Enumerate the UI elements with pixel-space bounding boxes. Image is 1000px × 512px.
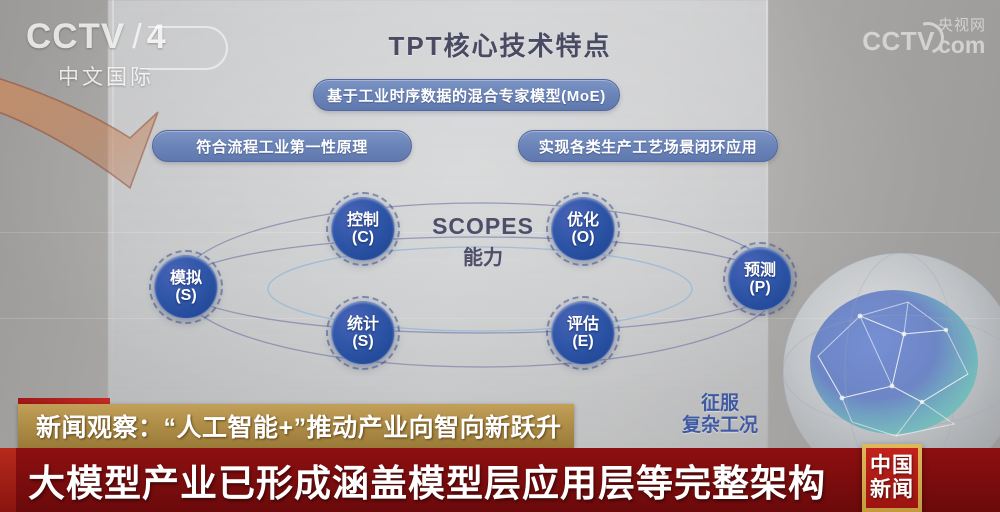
program-badge-line1: 中国: [870, 454, 914, 478]
node-evaluation: 评估 (E): [551, 301, 615, 365]
node-control-label: 控制: [347, 212, 379, 229]
diagram-center-label: SCOPES 能力: [398, 213, 568, 270]
node-prediction: 预测 (P): [728, 247, 792, 311]
node-simulation: 模拟 (S): [154, 255, 218, 319]
program-badge: 中国 新闻: [862, 444, 922, 512]
node-optimization-label: 优化: [567, 212, 599, 229]
lower-third-subtitle-bar: 新闻观察：“人工智能+”推动产业向智向新跃升: [18, 404, 574, 448]
node-simulation-label: 模拟: [170, 270, 202, 287]
node-simulation-code: (S): [175, 287, 196, 304]
side-caption-line2: 复杂工况: [660, 415, 780, 437]
slide-title: TPT核心技术特点: [0, 26, 1000, 63]
broadcast-frame: CCTV / 4 中文国际 CCTV 央视网 com TPT核心技术特点 基于工…: [0, 0, 1000, 512]
center-label-capability: 能力: [398, 241, 568, 270]
feature-pill-moe: 基于工业时序数据的混合专家模型(MoE): [313, 79, 620, 111]
center-label-scopes: SCOPES: [398, 213, 568, 240]
side-caption-line1: 征服: [701, 393, 739, 414]
node-optimization-code: (O): [571, 229, 594, 246]
node-control: 控制 (C): [331, 197, 395, 261]
lower-third-subtitle-text: 新闻观察：“人工智能+”推动产业向智向新跃升: [36, 408, 562, 444]
lower-third-headline-bar: 大模型产业已形成涵盖模型层应用层等完整架构: [0, 448, 1000, 512]
node-prediction-code: (P): [749, 279, 770, 296]
node-evaluation-code: (E): [572, 333, 593, 350]
program-badge-inner: 中国 新闻: [866, 448, 918, 508]
node-statistics: 统计 (S): [331, 301, 395, 365]
feature-pill-closed-loop: 实现各类生产工艺场景闭环应用: [518, 130, 778, 162]
node-control-code: (C): [352, 229, 374, 246]
feature-pill-first-principles: 符合流程工业第一性原理: [152, 130, 412, 162]
node-statistics-label: 统计: [347, 316, 379, 333]
scopes-capability-diagram: 模拟 (S) 控制 (C) 优化 (O) 预测 (P) 统计 (S) 评估 (E…: [110, 185, 850, 385]
program-badge-line2: 新闻: [870, 478, 914, 502]
node-evaluation-label: 评估: [567, 316, 599, 333]
node-prediction-label: 预测: [744, 262, 776, 279]
slide-side-caption: 征服 复杂工况: [660, 393, 780, 437]
lower-third-headline-text: 大模型产业已形成涵盖模型层应用层等完整架构: [28, 453, 826, 507]
node-statistics-code: (S): [352, 333, 373, 350]
